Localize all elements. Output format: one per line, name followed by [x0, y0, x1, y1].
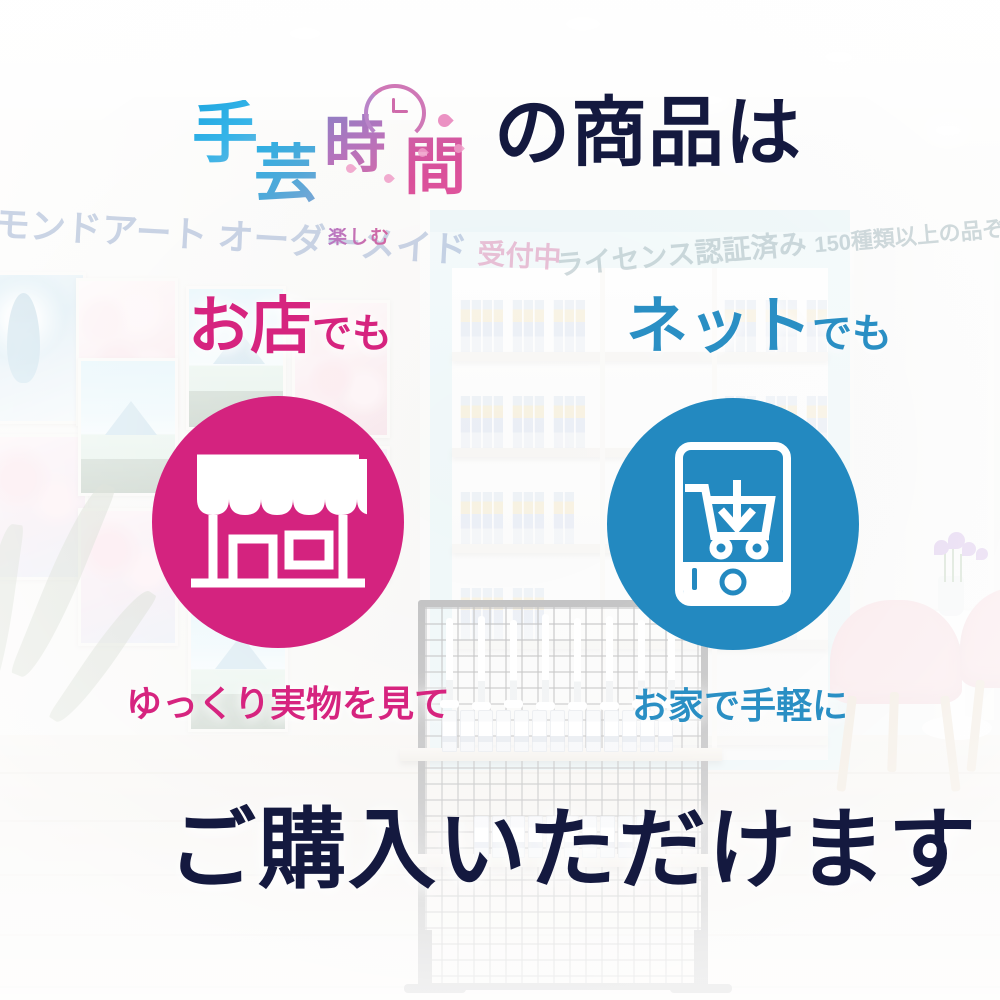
- ceiling-light: [826, 52, 852, 62]
- shelf-product: [553, 396, 563, 448]
- flower-bloom: [934, 540, 949, 555]
- shelf-product: [523, 300, 533, 352]
- rack-foot: [670, 984, 732, 993]
- shelf-product: [534, 396, 544, 448]
- hanging-product: [574, 618, 581, 706]
- shelf-product: [575, 300, 585, 352]
- petal-decoration: [435, 111, 453, 129]
- shelf-product: [553, 300, 563, 352]
- bottle-product: [568, 710, 583, 752]
- shelf-product: [493, 492, 503, 544]
- shelf-product: [564, 300, 574, 352]
- section-label-shop-main: お店: [188, 292, 312, 361]
- bottle-product: [496, 710, 511, 752]
- shelf-product: [493, 396, 503, 448]
- poster-canvas: モンドアート オーダーメイド 受付中 ライセンス認証済み 150種類以上の品ぞろ…: [0, 0, 1000, 1000]
- shelf-product: [564, 396, 574, 448]
- shelf-product: [471, 492, 481, 544]
- flower-stem: [944, 552, 946, 582]
- shelf-product: [553, 492, 563, 544]
- shelf-product: [512, 492, 522, 544]
- clock-icon: [364, 84, 426, 142]
- flower-bloom: [976, 548, 988, 560]
- bottle-product: [514, 710, 529, 752]
- section-label-net-main: ネット: [626, 292, 812, 361]
- brand-logo: 手 芸 時 間 楽しむ: [186, 78, 486, 198]
- page-headline: の商品は: [494, 96, 802, 172]
- bottle-product: [604, 710, 619, 752]
- rack-leg: [424, 930, 432, 990]
- shelf-product: [575, 396, 585, 448]
- logo-subtitle: 楽しむ: [328, 228, 391, 247]
- cafe-chair: [830, 600, 970, 790]
- ceiling-light: [936, 126, 960, 135]
- logo-char-te: 手: [192, 100, 258, 166]
- shelf-product: [523, 396, 533, 448]
- section-label-shop-suffix: でも: [312, 312, 392, 356]
- shop-caption: ゆっくり実物を見て: [126, 686, 450, 722]
- rack-foot: [404, 984, 466, 993]
- wall-copy-left-accent: 受付中: [477, 238, 563, 274]
- ceiling-light: [566, 18, 600, 30]
- flower-stem: [952, 548, 954, 582]
- shelf-product: [493, 300, 503, 352]
- rack-leg: [694, 930, 702, 990]
- shelf-product: [471, 300, 481, 352]
- section-label-shop: お店でも: [188, 296, 392, 358]
- net-caption: お家で手軽に: [632, 688, 848, 724]
- shelf-product: [471, 396, 481, 448]
- shelf-product: [460, 492, 470, 544]
- logo-char-gei: 芸: [254, 142, 318, 206]
- shelf-product: [564, 492, 574, 544]
- rack-mesh-panel: [418, 600, 708, 990]
- section-label-net: ネットでも: [626, 296, 892, 358]
- page-bottom-headline: ご購入いただけます: [168, 806, 978, 894]
- cafe-chair: [960, 588, 1000, 768]
- shelf-product: [534, 300, 544, 352]
- section-label-net-suffix: でも: [812, 312, 892, 356]
- storefront-icon: [189, 447, 367, 597]
- shelf-product: [460, 300, 470, 352]
- shelf-product: [534, 492, 544, 544]
- net-circle-badge: [607, 398, 859, 650]
- flower-vase: [938, 576, 964, 616]
- shelf-product: [482, 300, 492, 352]
- flower-bloom: [962, 542, 976, 556]
- hanging-product: [478, 616, 485, 706]
- smartphone-cart-icon: [673, 440, 793, 608]
- display-rack: [418, 600, 708, 990]
- bottle-product: [532, 710, 547, 752]
- shelf-product: [512, 396, 522, 448]
- framed-art: [0, 272, 86, 424]
- shelf-product: [460, 396, 470, 448]
- hanging-product: [606, 616, 613, 706]
- hanging-product: [542, 614, 549, 706]
- flower-stem: [960, 554, 962, 582]
- shelf-product: [482, 492, 492, 544]
- bottle-product: [460, 710, 475, 752]
- shop-circle-badge: [152, 396, 404, 648]
- shelf-product: [512, 300, 522, 352]
- bottle-product: [550, 710, 565, 752]
- ceiling-light: [290, 28, 320, 39]
- shelf-product: [482, 396, 492, 448]
- bottle-product: [478, 710, 493, 752]
- shelf-product: [523, 492, 533, 544]
- bottle-product: [586, 710, 601, 752]
- hanging-product: [510, 620, 517, 704]
